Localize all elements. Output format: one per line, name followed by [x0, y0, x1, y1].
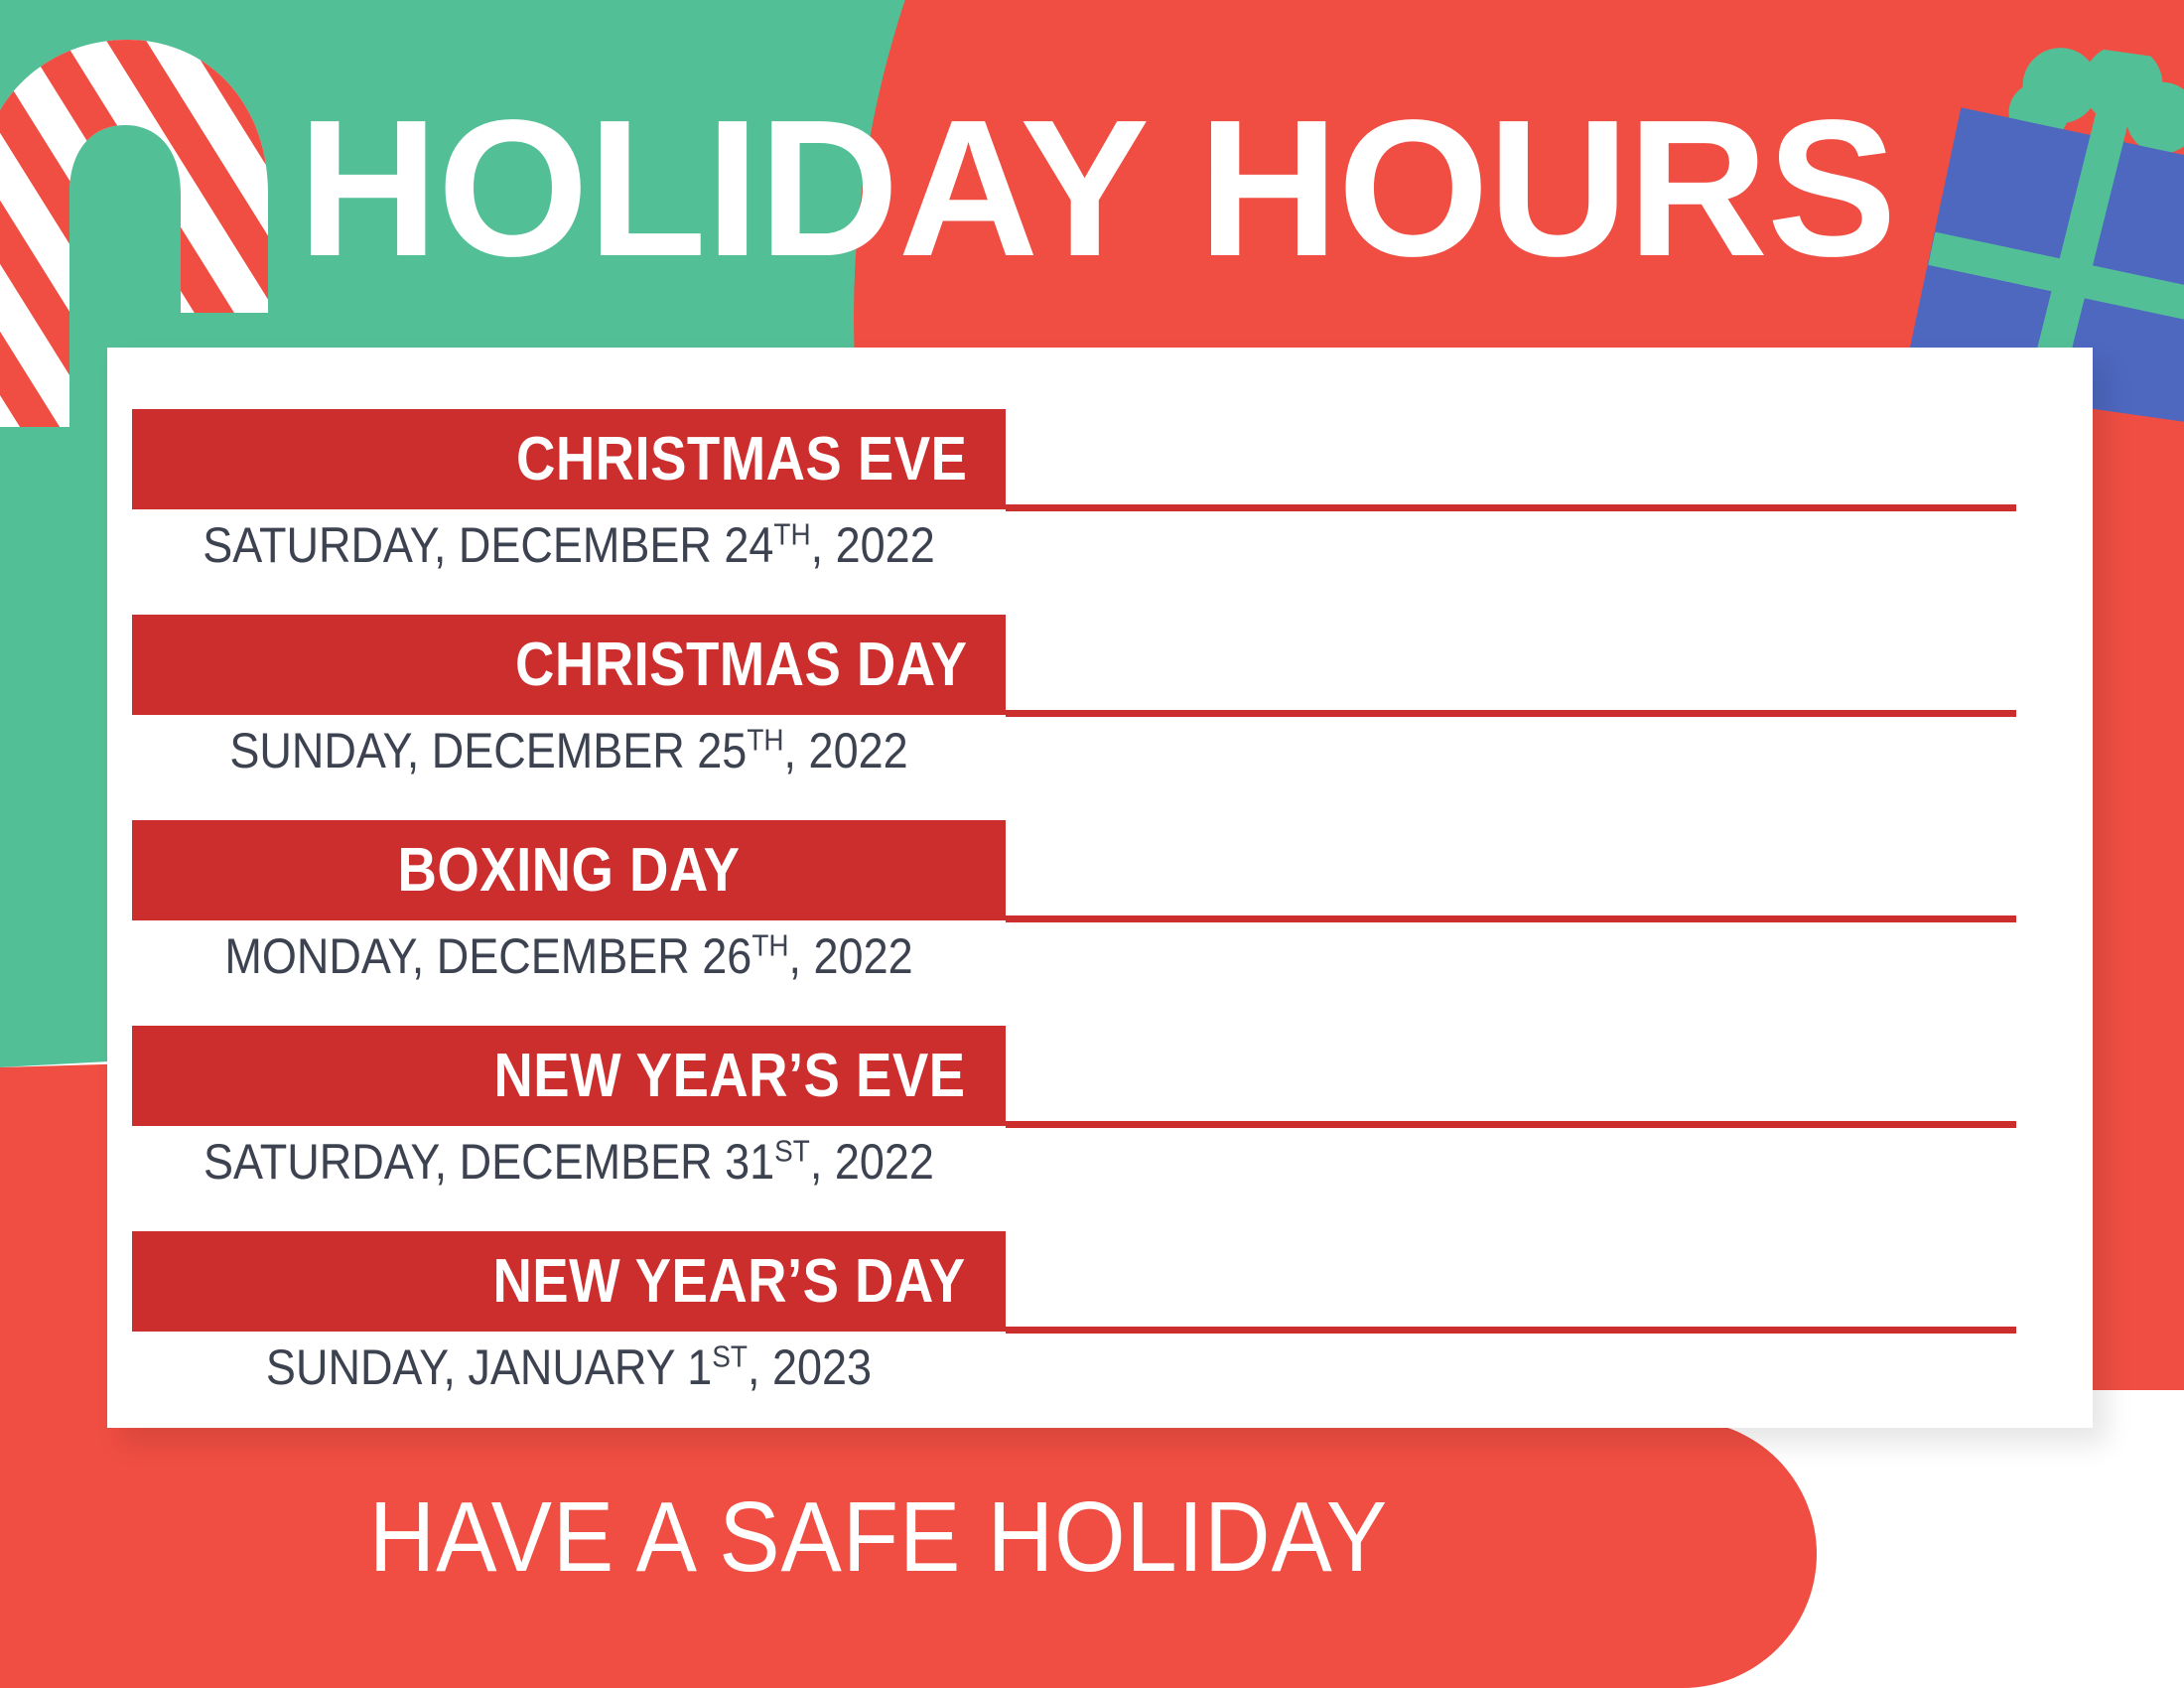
holiday-label-block: NEW YEAR’S DAY [132, 1231, 1006, 1332]
holiday-label: CHRISTMAS DAY [515, 634, 967, 696]
hours-entry-rule [1006, 915, 2016, 922]
holiday-date: SATURDAY, DECEMBER 24TH, 2022 [176, 520, 962, 570]
page-title: HOLIDAY HOURS [298, 91, 1926, 286]
hours-row: BOXING DAY MONDAY, DECEMBER 26TH, 2022 [107, 820, 2093, 1026]
date-suffix: , 2022 [810, 1134, 934, 1190]
date-suffix: , 2022 [811, 517, 935, 573]
holiday-label: NEW YEAR’S EVE [494, 1046, 966, 1107]
holiday-label-block: CHRISTMAS EVE [132, 409, 1006, 509]
date-prefix: MONDAY, DECEMBER 26 [224, 928, 751, 984]
holiday-date: SATURDAY, DECEMBER 31ST, 2022 [176, 1137, 962, 1187]
hours-row: NEW YEAR’S DAY SUNDAY, JANUARY 1ST, 2023 [107, 1231, 2093, 1437]
date-prefix: SUNDAY, JANUARY 1 [266, 1339, 712, 1395]
hours-list: CHRISTMAS EVE SATURDAY, DECEMBER 24TH, 2… [107, 348, 2093, 1437]
hours-entry-rule [1006, 504, 2016, 511]
holiday-date: SUNDAY, DECEMBER 25TH, 2022 [176, 726, 962, 775]
date-suffix: , 2022 [789, 928, 913, 984]
date-ordinal: TH [751, 927, 788, 962]
holiday-label: BOXING DAY [398, 840, 741, 902]
holiday-hours-poster: HOLIDAY HOURS CHRISTMAS EVE SATURDAY, DE… [0, 0, 2184, 1688]
holiday-label: NEW YEAR’S DAY [492, 1251, 965, 1313]
date-ordinal: TH [773, 516, 810, 551]
date-prefix: SUNDAY, DECEMBER 25 [229, 723, 747, 778]
hours-entry-rule [1006, 1327, 2016, 1334]
holiday-label-block: CHRISTMAS DAY [132, 615, 1006, 715]
date-ordinal: ST [774, 1133, 810, 1168]
date-suffix: , 2022 [784, 723, 908, 778]
holiday-label-block: NEW YEAR’S EVE [132, 1026, 1006, 1126]
hours-row: NEW YEAR’S EVE SATURDAY, DECEMBER 31ST, … [107, 1026, 2093, 1231]
hours-entry-rule [1006, 1121, 2016, 1128]
date-suffix: , 2023 [748, 1339, 872, 1395]
date-ordinal: TH [747, 722, 783, 757]
holiday-date: SUNDAY, JANUARY 1ST, 2023 [176, 1342, 962, 1392]
hours-row: CHRISTMAS EVE SATURDAY, DECEMBER 24TH, 2… [107, 409, 2093, 615]
date-prefix: SATURDAY, DECEMBER 31 [204, 1134, 774, 1190]
hours-entry-rule [1006, 710, 2016, 717]
hours-card: CHRISTMAS EVE SATURDAY, DECEMBER 24TH, 2… [107, 348, 2093, 1428]
holiday-date: MONDAY, DECEMBER 26TH, 2022 [176, 931, 962, 981]
date-prefix: SATURDAY, DECEMBER 24 [203, 517, 773, 573]
date-ordinal: ST [712, 1338, 748, 1373]
holiday-label-block: BOXING DAY [132, 820, 1006, 920]
holiday-label: CHRISTMAS EVE [516, 429, 967, 491]
hours-row: CHRISTMAS DAY SUNDAY, DECEMBER 25TH, 202… [107, 615, 2093, 820]
footer-message: HAVE A SAFE HOLIDAY [70, 1487, 1687, 1587]
